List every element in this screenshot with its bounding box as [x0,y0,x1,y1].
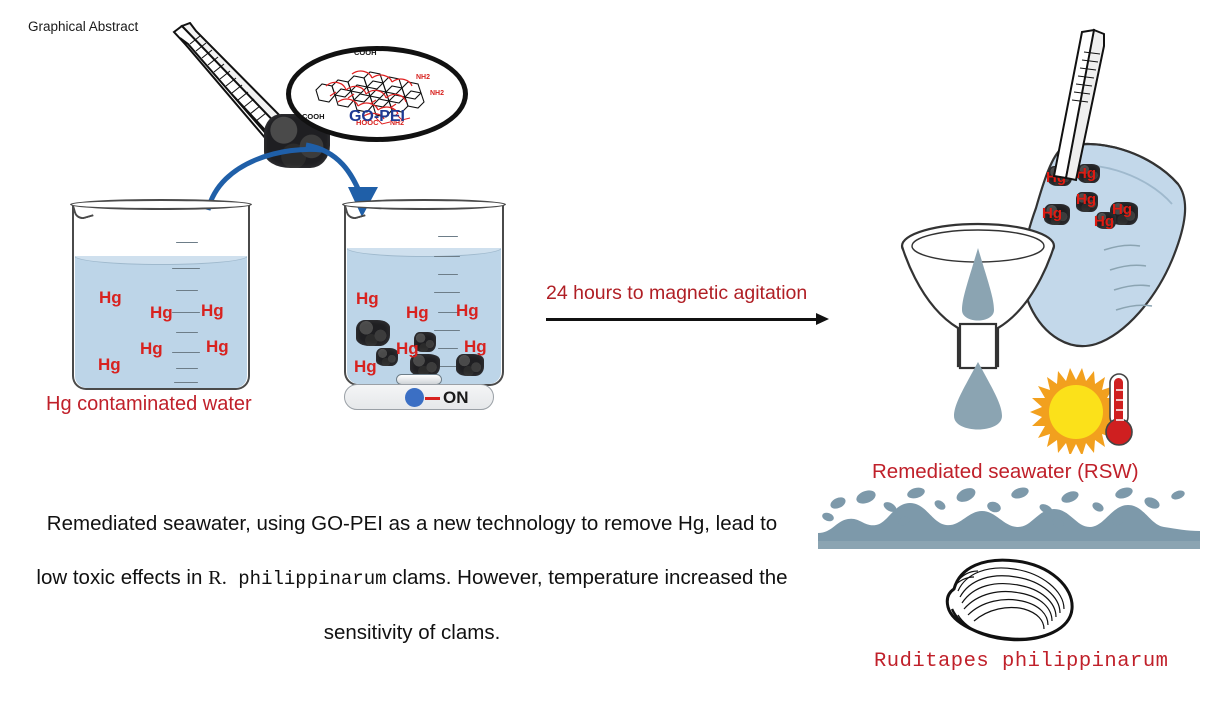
caption-line-3: sensitivity of clams. [12,606,812,660]
graphical-abstract-canvas: Graphical Abstract [0,0,1213,701]
page-title: Graphical Abstract [28,19,138,34]
species-label: Ruditapes philippinarum [874,650,1168,673]
beaker-rim [70,199,252,210]
tweezers-icon [1020,28,1140,188]
graduation-tick [174,382,198,383]
species-epithet: philippinarum [238,568,386,590]
cooh-group-top: COOH [354,48,377,57]
go-pei-particle [376,348,398,366]
graduation-tick [438,274,458,275]
caption-line-1: Remediated seawater, using GO-PEI as a n… [12,497,812,551]
hg-contaminated-water-label: Hg contaminated water [46,393,252,416]
caption-line-2-suffix: clams. However, temperature increased th… [387,566,788,589]
genus-abbreviation: R. [208,567,227,589]
hg-label: Hg [396,340,419,357]
go-pei-label: GO-PEI [286,108,468,126]
summary-caption: Remediated seawater, using GO-PEI as a n… [12,497,812,660]
stir-plate[interactable]: ON [344,384,494,410]
power-indicator-line [425,397,440,400]
clam-illustration [938,553,1084,645]
rsw-label: Remediated seawater (RSW) [872,460,1139,484]
process-arrow-line [546,318,818,321]
graduation-tick [434,256,460,257]
hg-label: Hg [464,338,487,355]
water-surface [347,248,501,257]
hg-label: Hg [206,338,229,355]
water-surface [75,256,247,265]
power-indicator-icon [405,388,424,407]
wave-graphic [818,487,1200,549]
hg-label: Hg [1112,202,1132,217]
hg-label: Hg [1076,192,1096,207]
hg-label: Hg [456,302,479,319]
sun-thermometer-icon [1028,368,1146,454]
graduation-tick [172,268,200,269]
graduation-tick [172,312,200,313]
graduation-tick [176,368,198,369]
graduation-tick [172,352,200,353]
middle-beaker: Hg Hg Hg Hg Hg Hg [338,196,510,396]
hg-label: Hg [201,302,224,319]
graduation-tick [438,312,458,313]
go-pei-particle [356,320,390,346]
hg-label: Hg [99,289,122,306]
graduation-tick [176,290,198,291]
caption-line-2-prefix: low toxic effects in [36,566,208,589]
nh2-group-1: NH2 [430,90,444,97]
process-arrow-label: 24 hours to magnetic agitation [546,282,807,305]
hg-label: Hg [354,358,377,375]
hg-label: Hg [150,304,173,321]
graduation-tick [176,332,198,333]
go-pei-particle [456,354,484,376]
nh2-group-3: NH2 [416,74,430,81]
beaker-rim [342,199,506,210]
droplet [954,362,1002,430]
process-arrow-head-icon [816,313,829,325]
graduation-tick [438,236,458,237]
hg-label: Hg [98,356,121,373]
hg-label: Hg [1094,214,1114,229]
hg-label: Hg [140,340,163,357]
stir-status-label: ON [443,388,469,408]
graduation-tick [438,348,458,349]
caption-line-2: low toxic effects in R. philippinarum cl… [12,551,812,606]
graduation-tick [176,242,198,243]
graduation-tick [434,330,460,331]
graduation-tick [434,292,460,293]
hg-label: Hg [356,290,379,307]
left-beaker: Hg Hg Hg Hg Hg Hg [66,196,256,396]
hg-label: Hg [406,304,429,321]
